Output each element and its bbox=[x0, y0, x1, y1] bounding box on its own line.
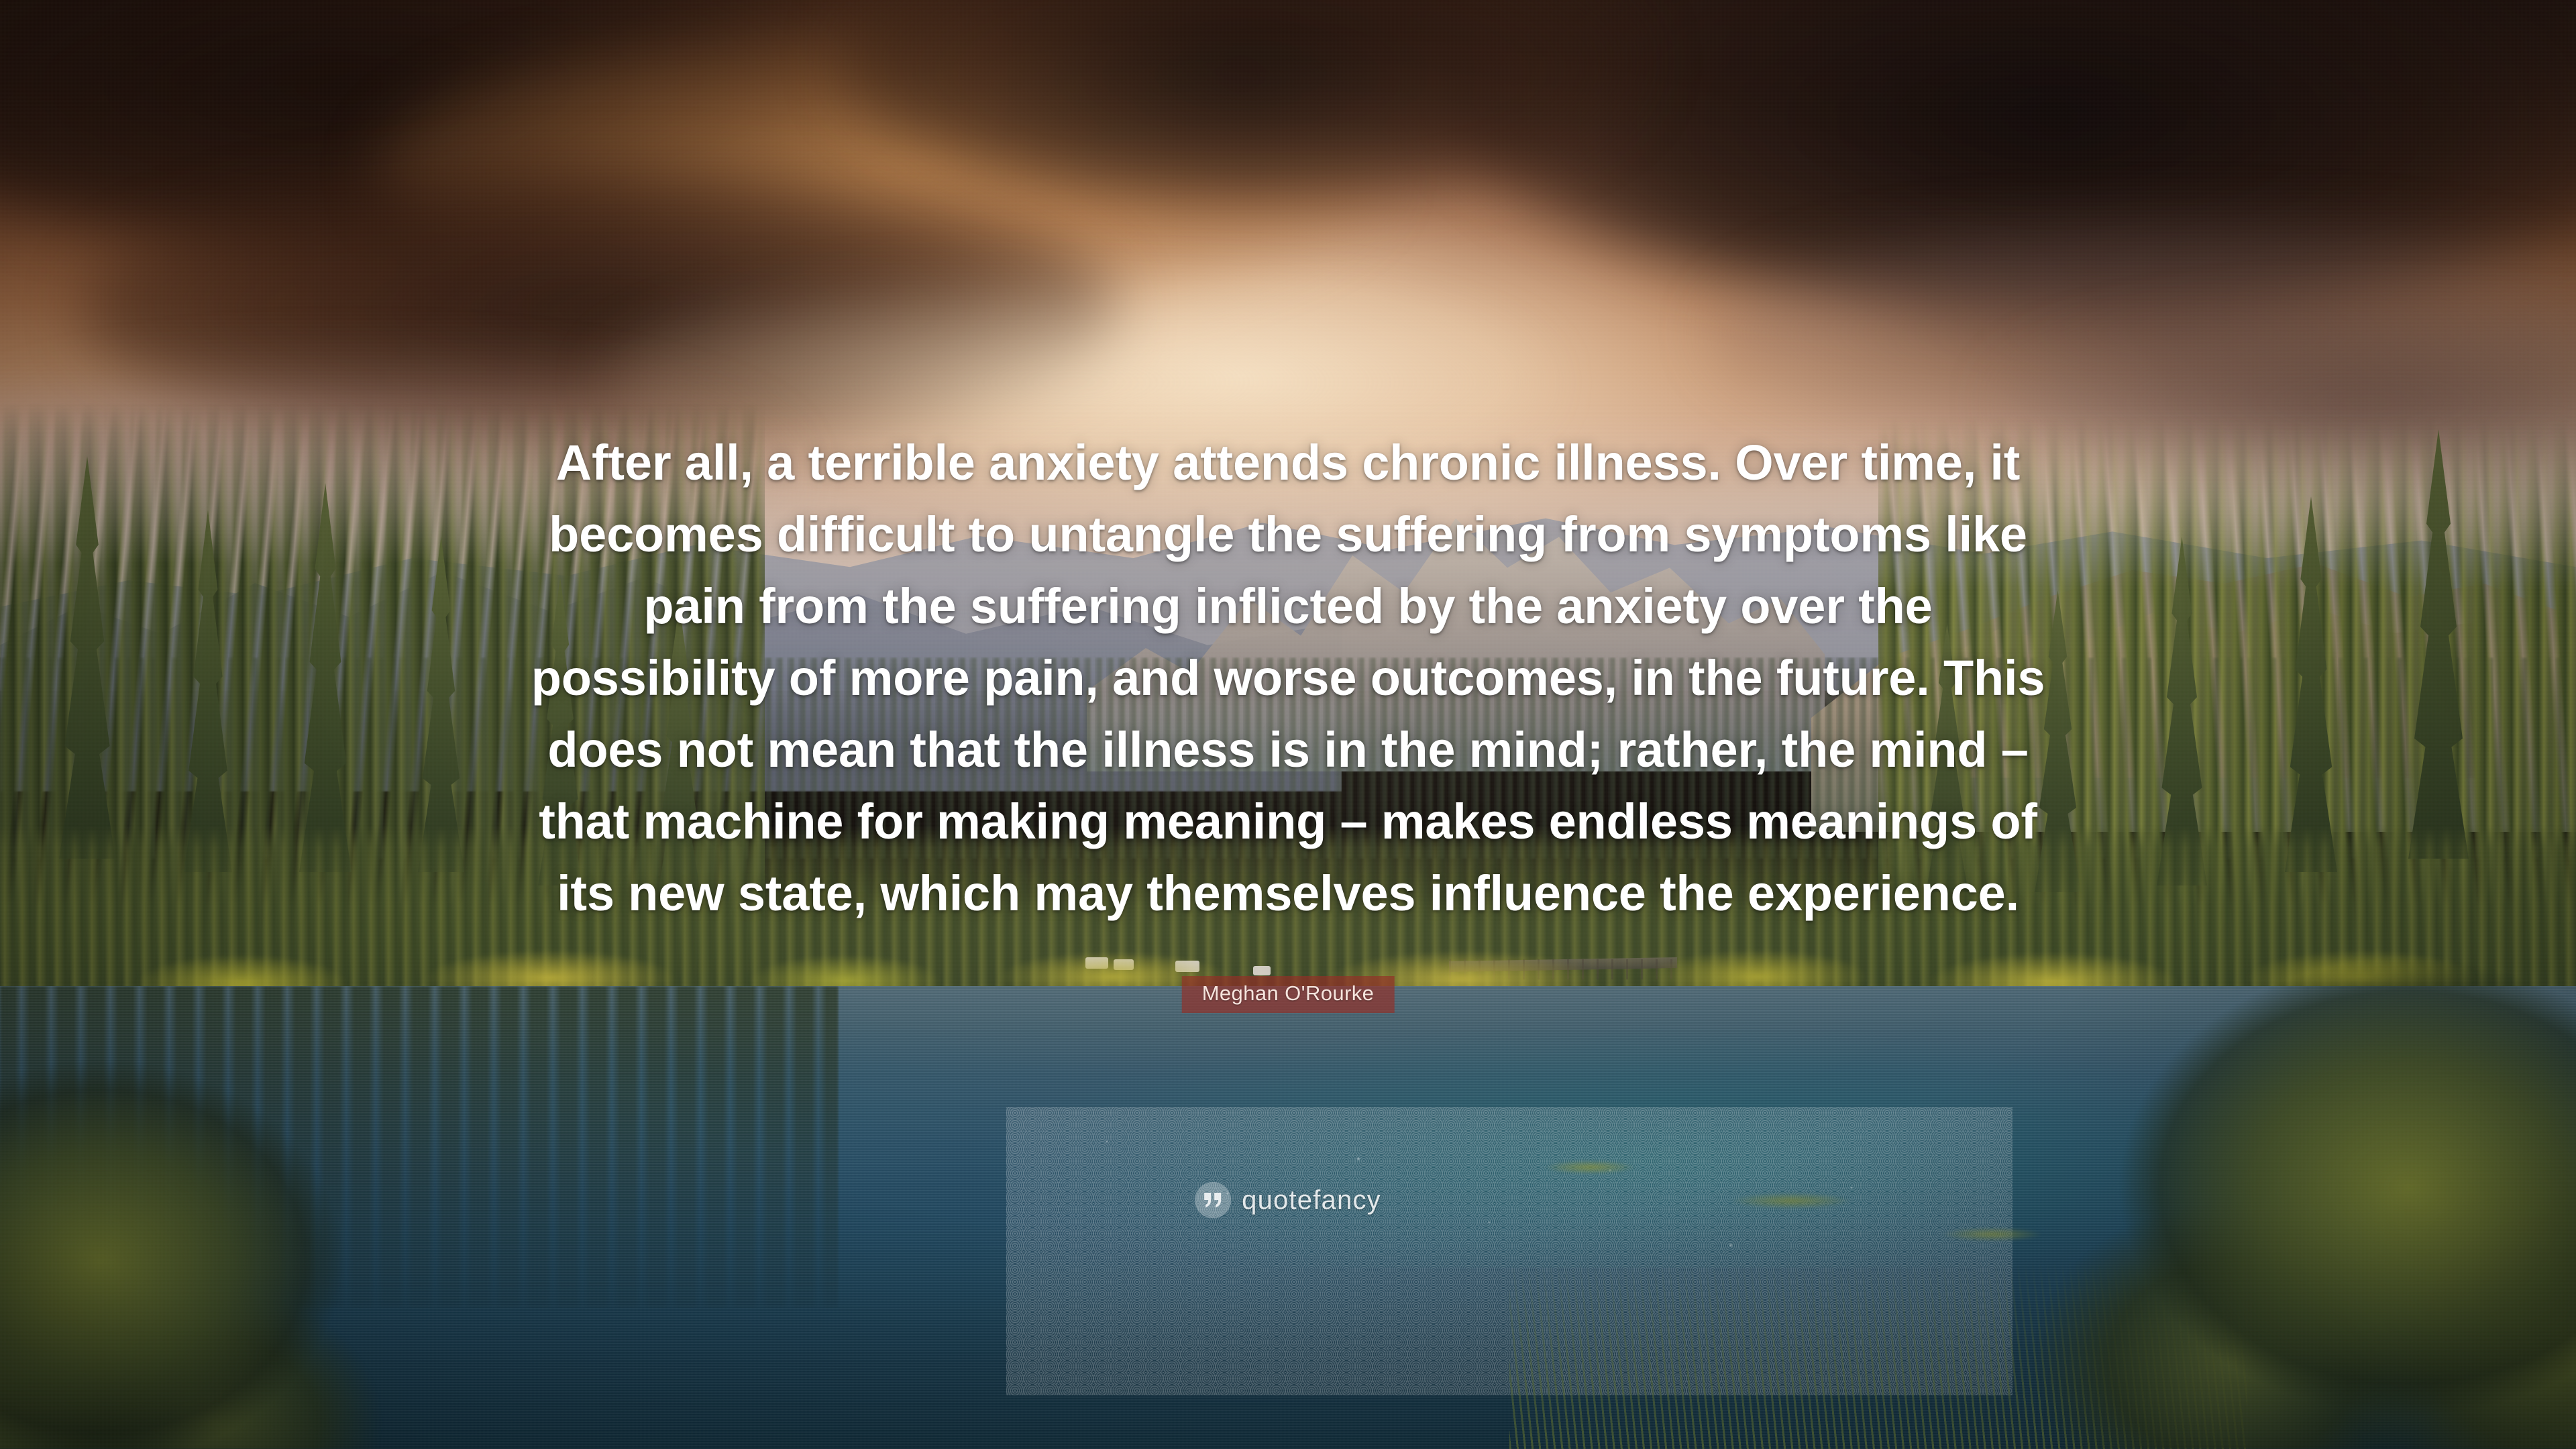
author-name: Meghan O'Rourke bbox=[1202, 982, 1375, 1005]
quote-line: possibility of more pain, and worse outc… bbox=[476, 642, 2100, 714]
quote-line: that machine for making meaning – makes … bbox=[476, 786, 2100, 857]
quote-line: its new state, which may themselves infl… bbox=[476, 857, 2100, 929]
quote-line: After all, a terrible anxiety attends ch… bbox=[476, 427, 2100, 498]
quote-line: does not mean that the illness is in the… bbox=[476, 714, 2100, 786]
quotefancy-brand-text: quotefancy bbox=[1242, 1185, 1381, 1215]
author-badge: Meghan O'Rourke bbox=[1182, 976, 1395, 1013]
quote-text-block: After all, a terrible anxiety attends ch… bbox=[476, 427, 2100, 929]
quote-line: becomes difficult to untangle the suffer… bbox=[476, 498, 2100, 570]
foreground-bush-right bbox=[1818, 959, 2576, 1449]
foreground-bush-left bbox=[0, 1006, 617, 1449]
quote-line: pain from the suffering inflicted by the… bbox=[476, 570, 2100, 642]
quotefancy-watermark[interactable]: quotefancy bbox=[1195, 1182, 1381, 1218]
double-quote-icon bbox=[1195, 1182, 1231, 1218]
quote-wallpaper: After all, a terrible anxiety attends ch… bbox=[0, 0, 2576, 1449]
